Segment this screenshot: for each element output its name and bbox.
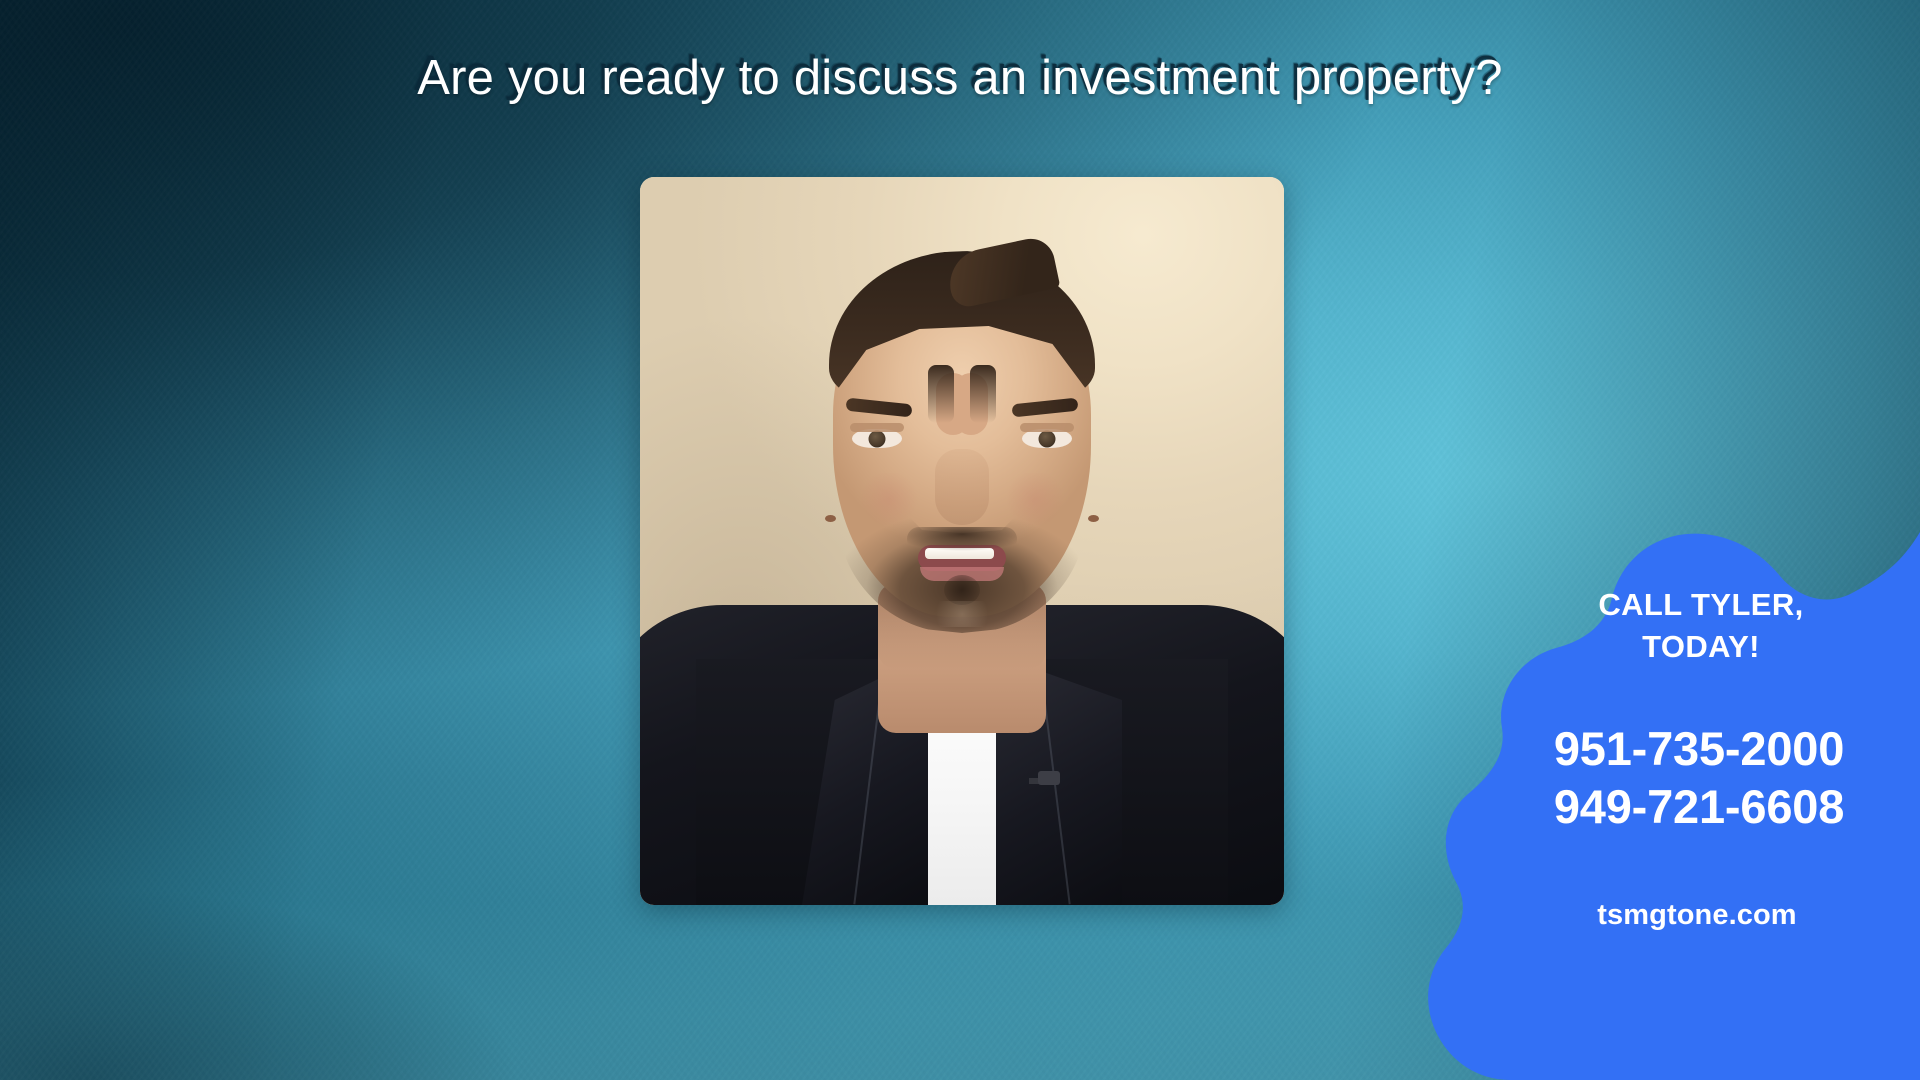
callout-heading-line-1: CALL TYLER,	[1518, 584, 1884, 626]
sideburn-right	[928, 365, 954, 423]
moustache	[907, 527, 1017, 551]
presenter-video-frame	[640, 177, 1284, 905]
contact-callout-text: CALL TYLER, TODAY! 951-735-2000 949-721-…	[1360, 532, 1920, 1080]
lavalier-mic-icon	[1038, 771, 1060, 785]
sideburn-left	[970, 365, 996, 423]
eyelid-left	[1020, 423, 1074, 432]
nostril-right	[825, 515, 836, 522]
eyelid-right	[850, 423, 904, 432]
nose	[935, 449, 989, 525]
website-link[interactable]: tsmgtone.com	[1510, 898, 1884, 932]
phone-number-primary[interactable]: 951-735-2000	[1514, 720, 1884, 778]
phone-number-secondary[interactable]: 949-721-6608	[1514, 778, 1884, 836]
nostril-left	[1088, 515, 1099, 522]
chin-highlight	[927, 601, 997, 627]
contact-callout-blob[interactable]: CALL TYLER, TODAY! 951-735-2000 949-721-…	[1360, 532, 1920, 1080]
iris-left	[1039, 430, 1056, 447]
callout-heading-line-2: TODAY!	[1518, 626, 1884, 668]
callout-heading: CALL TYLER, TODAY!	[1510, 584, 1884, 668]
iris-right	[869, 430, 886, 447]
callout-phone-list: 951-735-2000 949-721-6608	[1510, 720, 1884, 836]
